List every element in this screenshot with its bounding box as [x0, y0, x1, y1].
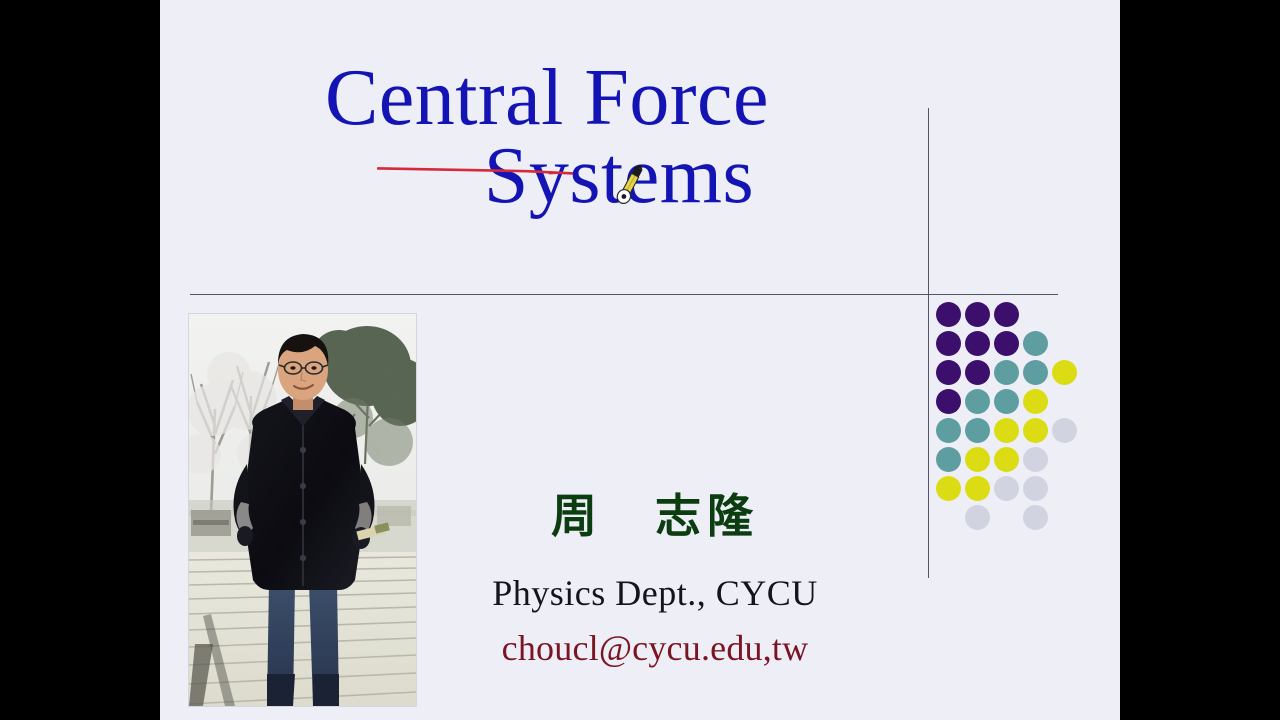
- decorative-dot: [1023, 476, 1048, 501]
- decorative-dot: [994, 418, 1019, 443]
- video-player-frame: Central Force Systems: [0, 0, 1280, 720]
- decorative-dot: [994, 360, 1019, 385]
- decorative-dot: [965, 302, 990, 327]
- decorative-dot: [936, 447, 961, 472]
- letterbox-bar-right: [1120, 0, 1280, 720]
- decorative-dot: [936, 302, 961, 327]
- red-underline-annotation: [377, 166, 573, 175]
- divider-vertical: [928, 108, 929, 578]
- decorative-dot: [994, 476, 1019, 501]
- decorative-dot: [936, 360, 961, 385]
- decorative-dot: [1023, 360, 1048, 385]
- presenter-affiliation: Physics Dept., CYCU: [440, 572, 870, 614]
- decorative-dot: [1023, 331, 1048, 356]
- decorative-dot: [1052, 360, 1077, 385]
- decorative-dot: [936, 418, 961, 443]
- decorative-dot: [936, 331, 961, 356]
- decorative-dot: [965, 476, 990, 501]
- decorative-dot: [965, 447, 990, 472]
- decorative-dot: [965, 360, 990, 385]
- presentation-slide: Central Force Systems: [160, 0, 1120, 720]
- decorative-dot: [965, 505, 990, 530]
- slide-title: Central Force Systems: [160, 58, 928, 217]
- decorative-dot: [994, 389, 1019, 414]
- title-line-2: Systems: [160, 136, 928, 218]
- presenter-name: 周 志隆: [440, 480, 870, 546]
- decorative-dot: [965, 418, 990, 443]
- decorative-dot: [994, 447, 1019, 472]
- decorative-dot-grid: [936, 302, 1111, 554]
- decorative-dot: [1023, 505, 1048, 530]
- decorative-dot: [1052, 418, 1077, 443]
- decorative-dot: [994, 331, 1019, 356]
- letterbox-bar-left: [0, 0, 160, 720]
- presenter-email: choucl@cycu.edu,tw: [440, 627, 870, 669]
- decorative-dot: [965, 389, 990, 414]
- pencil-icon[interactable]: [609, 162, 651, 208]
- decorative-dot: [1023, 389, 1048, 414]
- decorative-dot: [965, 331, 990, 356]
- title-line-1: Central Force: [160, 58, 928, 140]
- decorative-dot: [1023, 447, 1048, 472]
- decorative-dot: [936, 476, 961, 501]
- decorative-dot: [936, 389, 961, 414]
- presenter-photo: [189, 314, 416, 706]
- decorative-dot: [1023, 418, 1048, 443]
- decorative-dot: [994, 302, 1019, 327]
